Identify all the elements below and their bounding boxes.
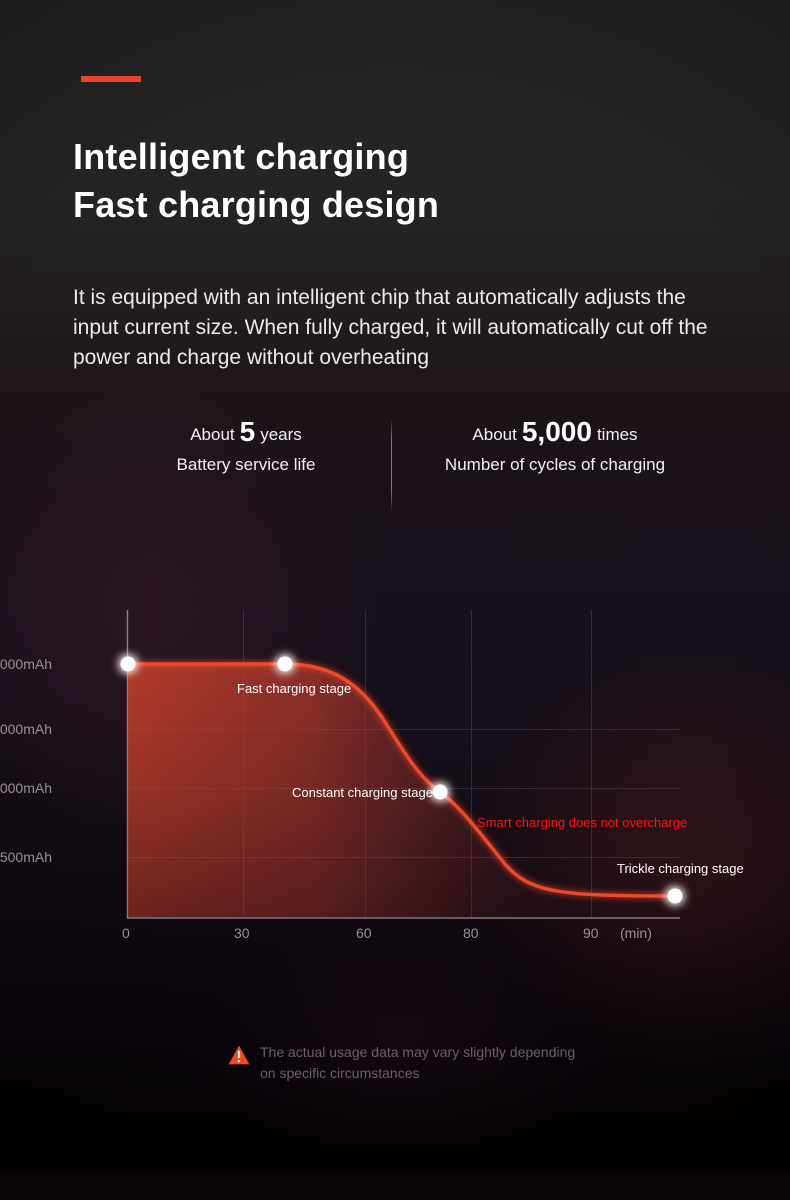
x-tick-0: 0 — [122, 925, 130, 941]
x-axis-unit-label: (min) — [620, 925, 652, 941]
charging-curve-chart: 4000mAh 2000mAh 1000mAh 500mAh 0 30 60 8… — [0, 596, 790, 966]
stat-charge-cycles-caption: Number of cycles of charging — [400, 452, 710, 478]
marker-trickle-charge — [668, 889, 683, 904]
chart-svg — [0, 596, 790, 966]
y-tick-2000: 2000mAh — [0, 721, 52, 737]
annotation-constant-charging-stage: Constant charging stage — [292, 785, 433, 800]
stat-charge-cycles-value: 5,000 — [517, 416, 597, 447]
x-tick-60: 60 — [356, 925, 372, 941]
page-title: Intelligent charging Fast charging desig… — [73, 133, 733, 229]
stat-battery-life: About5years Battery service life — [110, 415, 382, 478]
stat-charge-cycles-prefix: About — [472, 425, 516, 444]
stat-battery-life-prefix: About — [190, 425, 234, 444]
x-tick-90: 90 — [583, 925, 599, 941]
stat-charge-cycles: About5,000times Number of cycles of char… — [400, 415, 710, 478]
annotation-trickle-charging-stage: Trickle charging stage — [617, 861, 744, 876]
description-paragraph: It is equipped with an intelligent chip … — [73, 283, 733, 373]
footnote-line-2: on specific circumstances — [260, 1065, 420, 1081]
y-tick-1000: 1000mAh — [0, 780, 52, 796]
headline-line-2: Fast charging design — [73, 181, 733, 229]
stats-section: About5years Battery service life About5,… — [0, 415, 790, 515]
marker-fast-charge-end — [278, 657, 293, 672]
stat-charge-cycles-headline: About5,000times — [400, 415, 710, 452]
stat-battery-life-unit: years — [260, 425, 302, 444]
stat-battery-life-caption: Battery service life — [110, 452, 382, 478]
stats-divider — [391, 418, 392, 512]
footnote: The actual usage data may vary slightly … — [228, 1042, 648, 1084]
red-accent-bar — [81, 76, 141, 82]
y-tick-4000: 4000mAh — [0, 656, 52, 672]
marker-constant-charge — [433, 785, 448, 800]
x-tick-80: 80 — [463, 925, 479, 941]
y-tick-500: 500mAh — [0, 849, 52, 865]
annotation-smart-charging-note: Smart charging does not overcharge — [477, 815, 687, 830]
stat-charge-cycles-unit: times — [597, 425, 638, 444]
promo-page: Intelligent charging Fast charging desig… — [0, 0, 790, 1171]
annotation-fast-charging-stage: Fast charging stage — [237, 681, 351, 696]
stat-battery-life-headline: About5years — [110, 415, 382, 452]
footnote-line-1: The actual usage data may vary slightly … — [260, 1044, 575, 1060]
headline-line-1: Intelligent charging — [73, 133, 733, 181]
footnote-text: The actual usage data may vary slightly … — [260, 1042, 575, 1084]
warning-triangle-icon — [228, 1045, 250, 1065]
x-tick-30: 30 — [234, 925, 250, 941]
stat-battery-life-value: 5 — [235, 416, 261, 447]
marker-start — [121, 657, 136, 672]
